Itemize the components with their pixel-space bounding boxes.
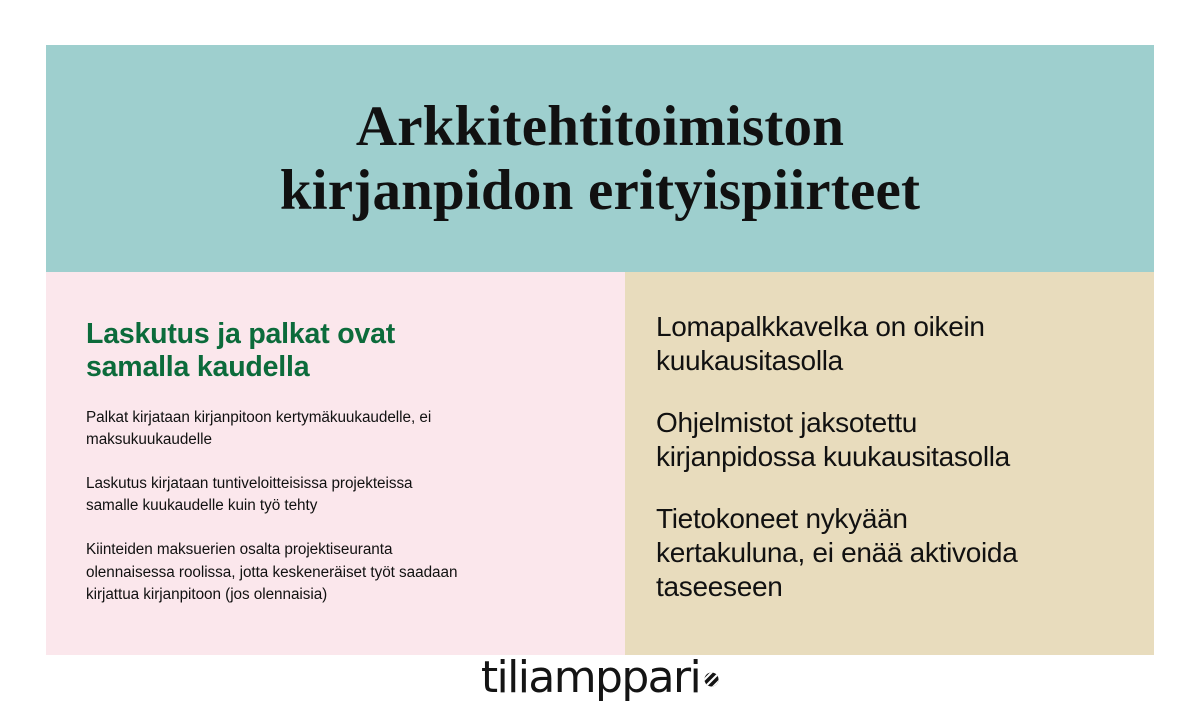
brand-logo[interactable]: tiliamppari: [0, 648, 1200, 708]
right-paragraph-1-line-1: Lomapalkkavelka on oikein: [656, 310, 1124, 344]
left-column-panel: Laskutus ja palkat ovat samalla kaudella…: [46, 272, 625, 655]
slide-canvas: Arkkitehtitoimiston kirjanpidon erityisp…: [0, 0, 1200, 727]
right-paragraph-3: Tietokoneet nykyään kertakuluna, ei enää…: [656, 502, 1124, 603]
brand-wordmark: tiliamppari: [481, 656, 700, 700]
left-paragraph-2: Laskutus kirjataan tuntiveloitteisissa p…: [86, 473, 581, 517]
left-paragraph-1-line-1: Palkat kirjataan kirjanpitoon kertymäkuu…: [86, 407, 581, 429]
content-columns: Laskutus ja palkat ovat samalla kaudella…: [46, 272, 1154, 655]
left-heading-line-2: samalla kaudella: [86, 351, 581, 384]
right-paragraph-3-line-2: kertakuluna, ei enää aktivoida: [656, 536, 1124, 570]
left-heading-line-1: Laskutus ja palkat ovat: [86, 318, 581, 351]
right-paragraph-2: Ohjelmistot jaksotettu kirjanpidossa kuu…: [656, 406, 1124, 473]
page-title-line-2: kirjanpidon erityispiirteet: [79, 159, 1121, 223]
header-band: Arkkitehtitoimiston kirjanpidon erityisp…: [46, 45, 1154, 272]
right-paragraph-3-line-3: taseeseen: [656, 570, 1124, 604]
right-paragraph-1: Lomapalkkavelka on oikein kuukausitasoll…: [656, 310, 1124, 377]
right-paragraph-2-line-1: Ohjelmistot jaksotettu: [656, 406, 1124, 440]
left-paragraph-1: Palkat kirjataan kirjanpitoon kertymäkuu…: [86, 407, 581, 451]
left-column-heading: Laskutus ja palkat ovat samalla kaudella: [86, 318, 581, 385]
right-paragraph-3-line-1: Tietokoneet nykyään: [656, 502, 1124, 536]
right-paragraph-2-line-2: kirjanpidossa kuukausitasolla: [656, 440, 1124, 474]
hatched-circle-icon: [704, 672, 719, 687]
left-paragraph-2-line-1: Laskutus kirjataan tuntiveloitteisissa p…: [86, 473, 581, 495]
right-column-panel: Lomapalkkavelka on oikein kuukausitasoll…: [625, 272, 1154, 655]
left-paragraph-3-line-1: Kiinteiden maksuerien osalta projektiseu…: [86, 539, 581, 561]
left-paragraph-1-line-2: maksukuukaudelle: [86, 429, 581, 451]
right-paragraph-1-line-2: kuukausitasolla: [656, 344, 1124, 378]
left-paragraph-2-line-2: samalle kuukaudelle kuin työ tehty: [86, 495, 581, 517]
left-paragraph-3-line-2: olennaisessa roolissa, jotta keskeneräis…: [86, 562, 581, 584]
page-title: Arkkitehtitoimiston kirjanpidon erityisp…: [79, 95, 1121, 223]
page-title-line-1: Arkkitehtitoimiston: [79, 95, 1121, 159]
left-paragraph-3: Kiinteiden maksuerien osalta projektiseu…: [86, 539, 581, 606]
left-paragraph-3-line-3: kirjattua kirjanpitoon (jos olennaisia): [86, 584, 581, 606]
